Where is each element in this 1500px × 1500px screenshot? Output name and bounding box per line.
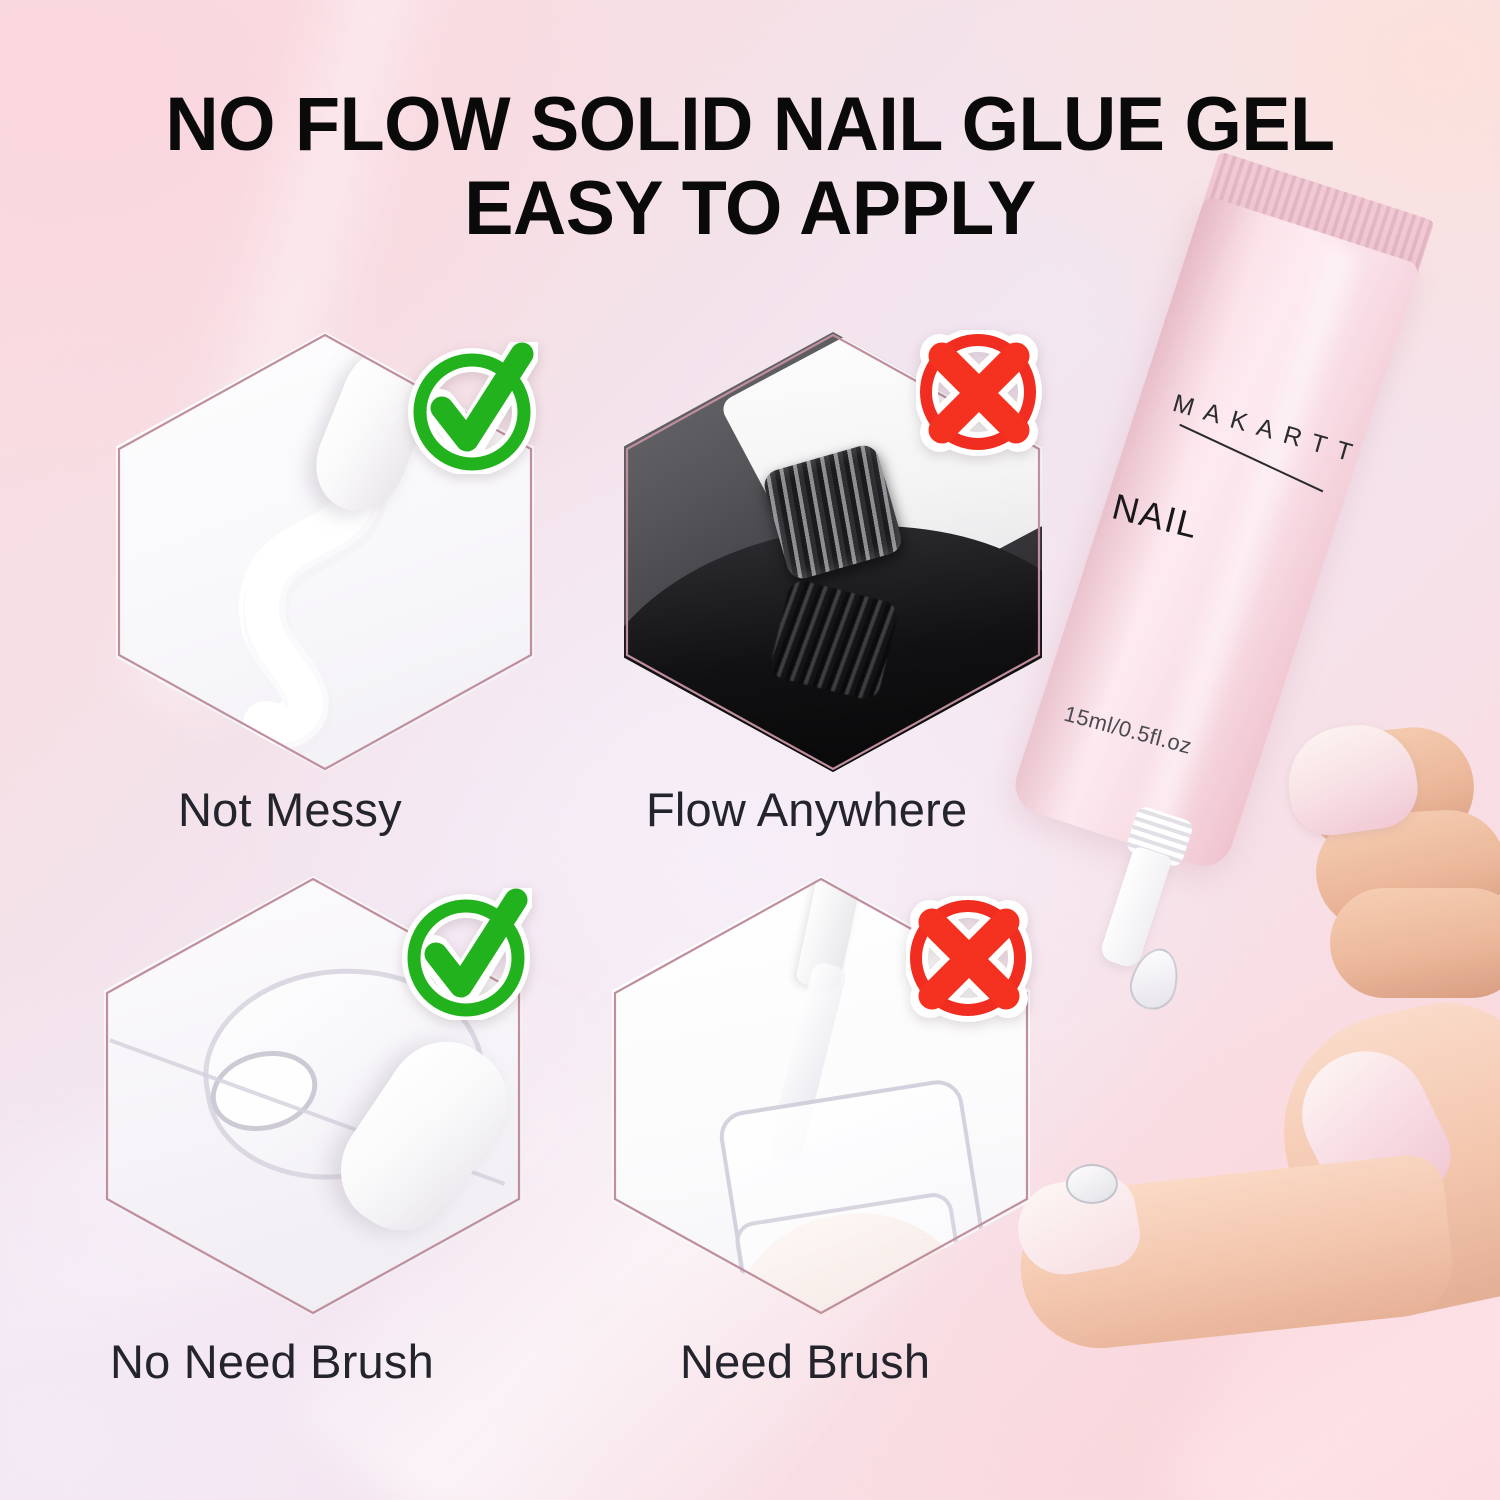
hand-receiving-gel	[1010, 1030, 1500, 1450]
product-photo: MAKARTT NAIL 15ml/0.5fl.oz	[1020, 200, 1500, 1500]
check-badge	[406, 342, 538, 474]
gel-bead-on-nail	[1066, 1164, 1118, 1204]
headline: NO FLOW SOLID NAIL GLUE GEL EASY TO APPL…	[0, 88, 1500, 247]
cross-badge	[916, 330, 1048, 462]
check-badge	[400, 888, 532, 1020]
cross-badge	[906, 896, 1038, 1028]
headline-line-2: EASY TO APPLY	[23, 172, 1478, 246]
caption-no-need-brush: No Need Brush	[110, 1334, 630, 1389]
caption-not-messy: Not Messy	[178, 782, 698, 837]
finger	[1330, 888, 1500, 998]
headline-line-1: NO FLOW SOLID NAIL GLUE GEL	[23, 88, 1478, 162]
